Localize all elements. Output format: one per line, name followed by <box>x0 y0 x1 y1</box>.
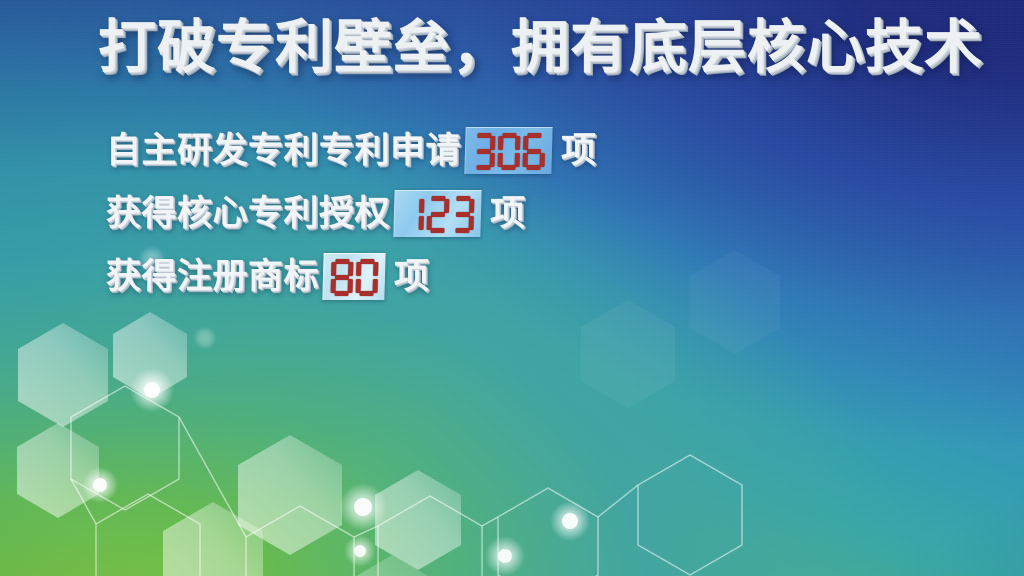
seg-digit-8 <box>330 259 353 296</box>
stat-unit: 项 <box>490 196 526 231</box>
seg-digit-3 <box>472 133 495 170</box>
led-panel-306 <box>464 127 552 174</box>
seg-digit-3 <box>451 196 474 233</box>
seg-digit-1 <box>401 196 424 233</box>
led-panel-80 <box>322 253 385 300</box>
stat-label: 自主研发专利专利申请 <box>106 133 461 168</box>
stat-line-patents-granted: 获得核心专利授权 <box>106 189 597 238</box>
seg-digit-0 <box>355 259 378 296</box>
presentation-slide: 打破专利壁垒，拥有底层核心技术 自主研发专利专利申请 <box>0 0 1024 576</box>
stat-line-trademarks: 获得注册商标 项 <box>106 252 597 301</box>
seg-digit-0 <box>497 133 520 170</box>
seg-digit-6 <box>522 133 545 170</box>
led-digits <box>472 133 545 170</box>
seg-digit-2 <box>426 196 449 233</box>
stat-label: 获得注册商标 <box>106 259 319 294</box>
stat-label: 获得核心专利授权 <box>106 196 390 231</box>
stat-list: 自主研发专利专利申请 <box>106 126 597 315</box>
stat-line-patent-applications: 自主研发专利专利申请 <box>106 126 597 175</box>
led-digits <box>401 196 474 233</box>
slide-headline: 打破专利壁垒，拥有底层核心技术 <box>98 19 983 77</box>
stat-unit: 项 <box>561 133 597 168</box>
led-digits <box>330 259 378 296</box>
led-panel-123 <box>393 190 481 237</box>
stat-unit: 项 <box>394 259 430 294</box>
